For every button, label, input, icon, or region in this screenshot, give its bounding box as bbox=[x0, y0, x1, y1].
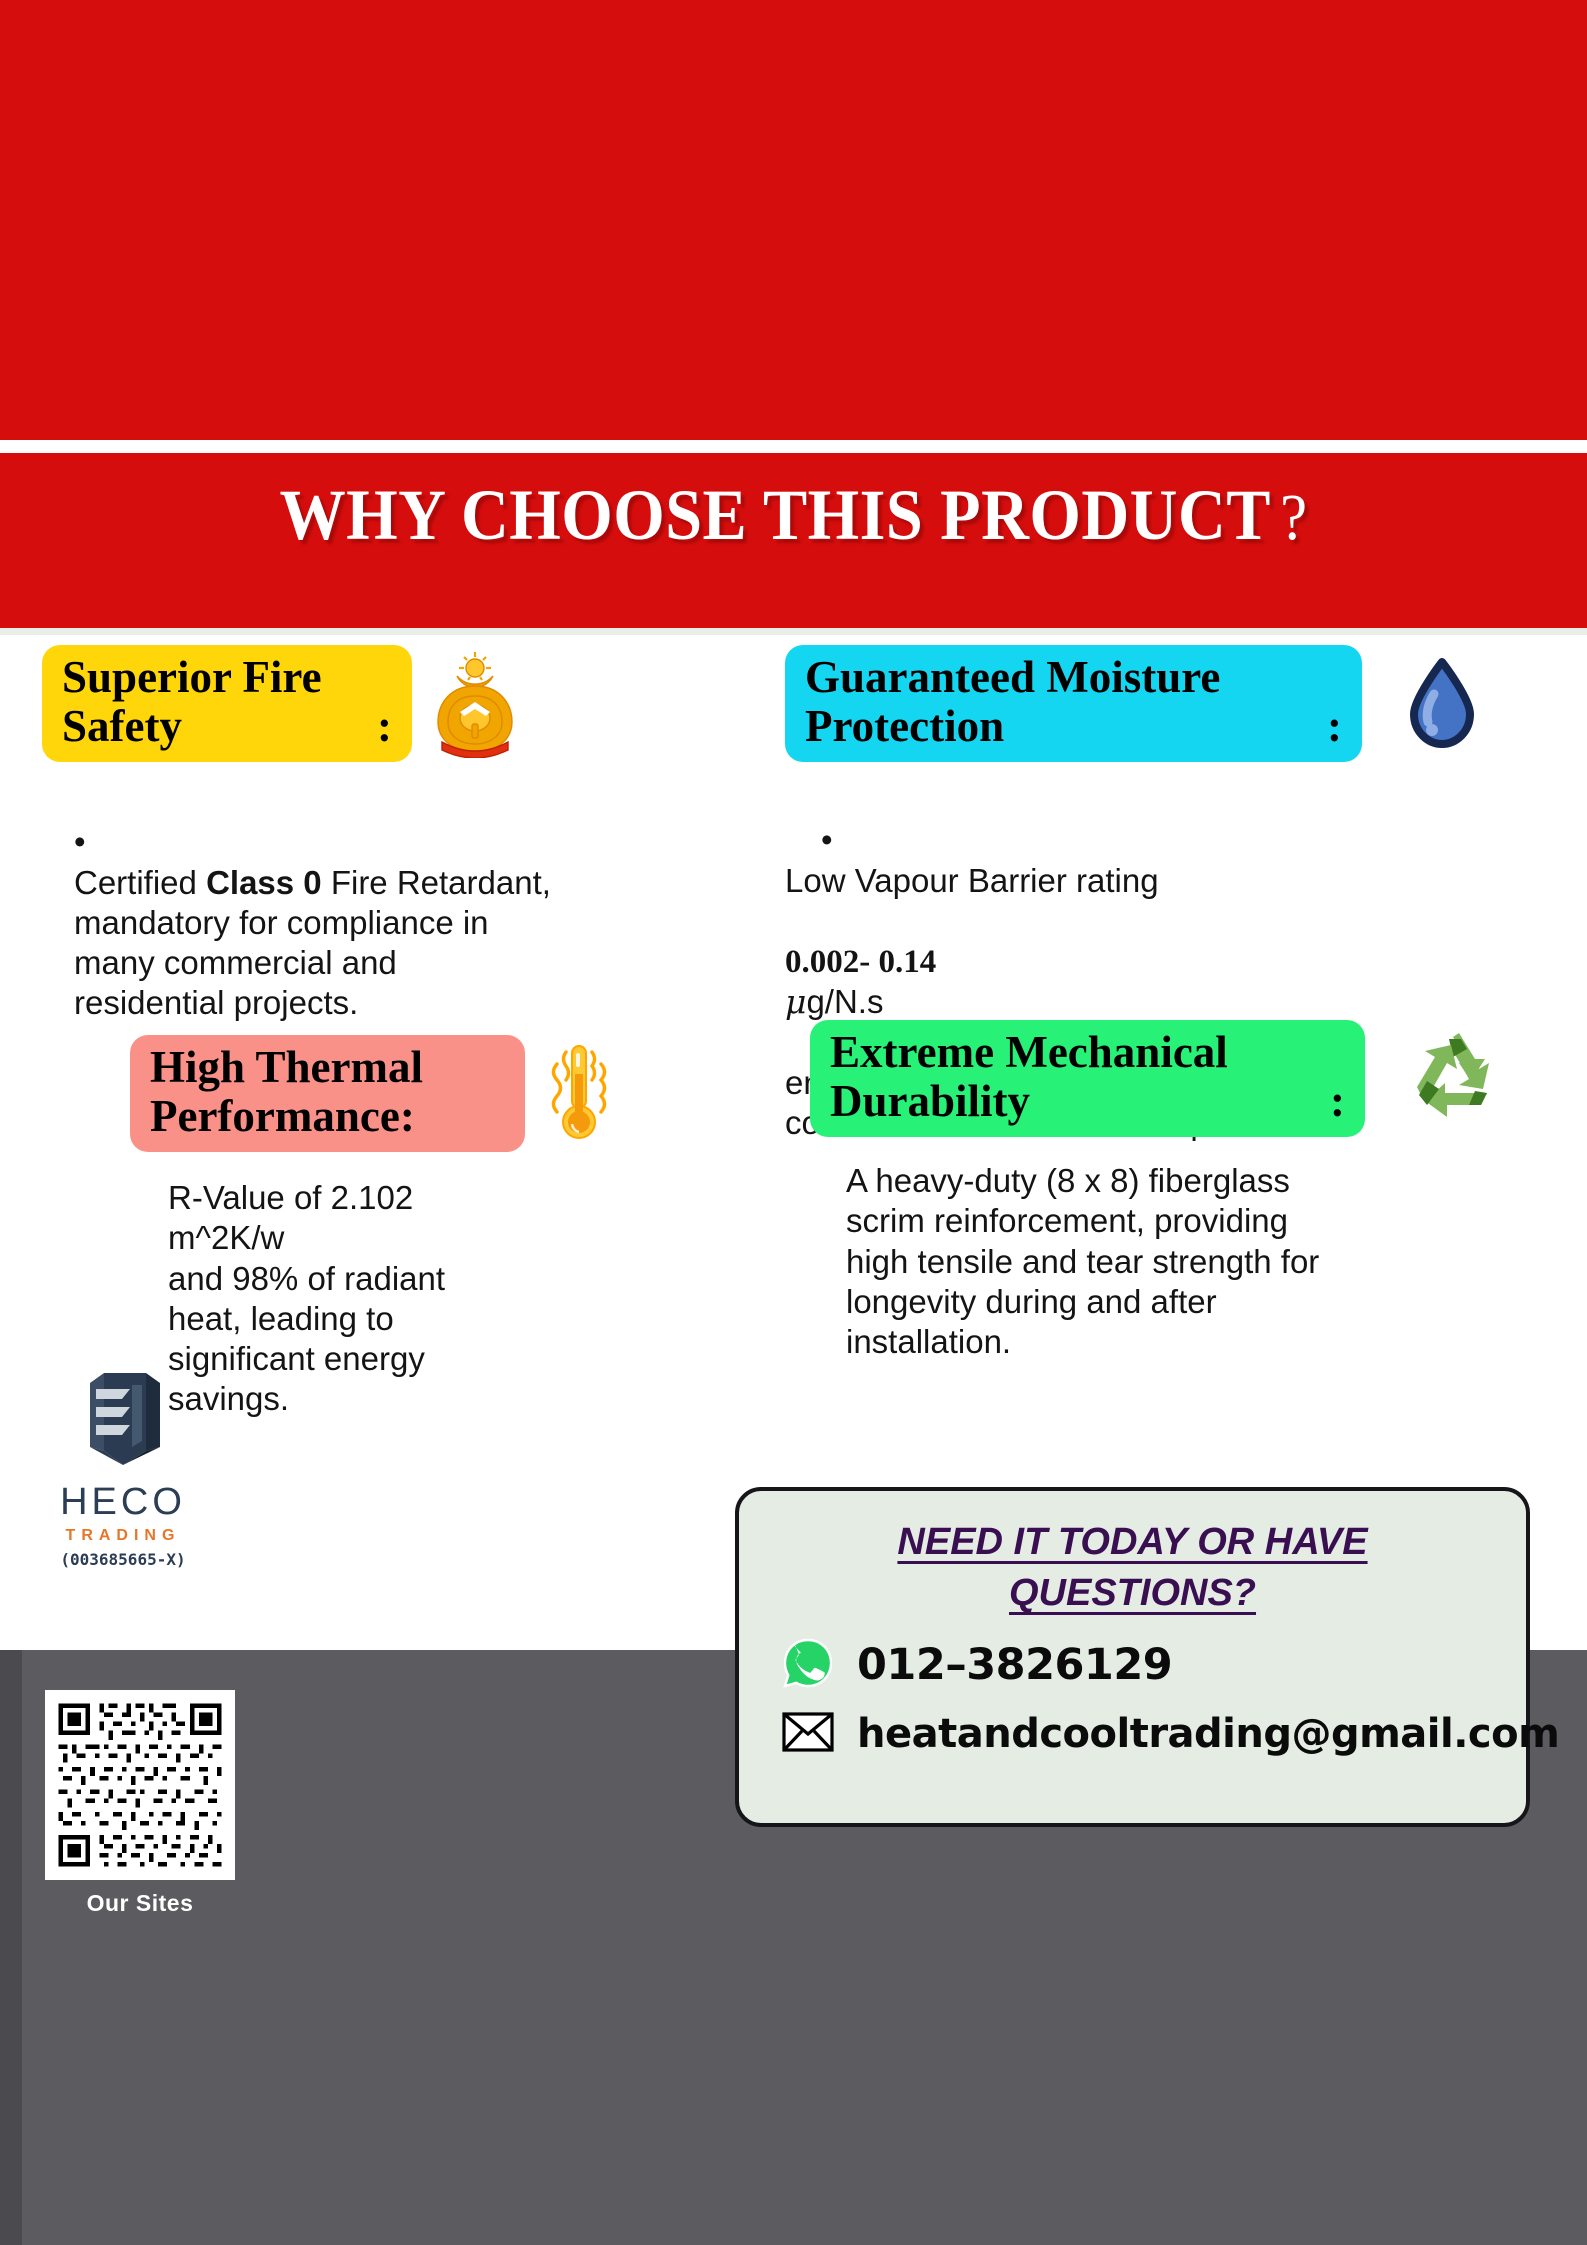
feature-moisture-protection-header: Guaranteed Moisture Protection : bbox=[785, 645, 1575, 762]
chip-line-2-text: Durability bbox=[830, 1077, 1030, 1126]
heco-logo: HECO TRADING (003685665-X) bbox=[28, 1355, 218, 1569]
chip-colon: : bbox=[1330, 1077, 1345, 1126]
masthead-banner bbox=[0, 0, 1587, 440]
bullet-glyph: • bbox=[74, 823, 86, 860]
body-bold-class0: Class 0 bbox=[206, 864, 322, 901]
feature-thermal-performance-chip: High Thermal Performance: bbox=[130, 1035, 525, 1152]
bullet-glyph: • bbox=[785, 821, 833, 858]
chip-line-2: Safety : bbox=[62, 702, 392, 751]
contact-phone-number[interactable]: 012–3826129 bbox=[857, 1640, 1172, 1690]
logo-wordmark: HECO bbox=[28, 1481, 218, 1524]
water-droplet-icon bbox=[1406, 656, 1478, 752]
chip-line-1: Guaranteed Moisture bbox=[805, 653, 1342, 702]
logo-tagline: TRADING bbox=[28, 1527, 218, 1545]
body-pre: Certified bbox=[74, 864, 206, 901]
contact-heading-line-2: QUESTIONS? bbox=[1009, 1572, 1256, 1614]
body-line-1: Low Vapour Barrier rating bbox=[785, 862, 1159, 899]
chip-line-2-text: Safety bbox=[62, 702, 182, 751]
footer-band-edge bbox=[0, 1650, 22, 2245]
chip-line-1: Superior Fire bbox=[62, 653, 392, 702]
features-grid: Superior Fire Safety : bbox=[0, 635, 1587, 1480]
feature-fire-safety-header: Superior Fire Safety : bbox=[42, 645, 742, 762]
feature-fire-safety-chip: Superior Fire Safety : bbox=[42, 645, 412, 762]
feature-mechanical-durability: Extreme Mechanical Durability : bbox=[810, 1020, 1587, 1362]
masthead-divider bbox=[0, 440, 1587, 453]
feature-mechanical-durability-chip: Extreme Mechanical Durability : bbox=[810, 1020, 1365, 1137]
features-column-left: Superior Fire Safety : bbox=[0, 635, 760, 1480]
chip-colon: : bbox=[377, 702, 392, 751]
contact-email-address[interactable]: heatandcooltrading@gmail.com bbox=[857, 1711, 1559, 1757]
recycle-icon bbox=[1405, 1031, 1501, 1127]
chip-line-2: Protection : bbox=[805, 702, 1342, 751]
chip-line-1: Extreme Mechanical bbox=[830, 1028, 1345, 1077]
chip-line-2-text: Protection bbox=[805, 702, 1004, 751]
contact-email-row[interactable]: heatandcooltrading@gmail.com bbox=[739, 1710, 1526, 1758]
feature-fire-safety-body: • Certified Class 0 Fire Retardant, mand… bbox=[42, 782, 742, 1024]
flyer-page: WHY CHOOSE THIS PRODUCT? Superior Fire S… bbox=[0, 0, 1587, 2245]
feature-mechanical-durability-header: Extreme Mechanical Durability : bbox=[810, 1020, 1587, 1137]
contact-heading: NEED IT TODAY OR HAVE QUESTIONS? bbox=[739, 1491, 1526, 1620]
feature-fire-safety: Superior Fire Safety : bbox=[42, 645, 742, 1024]
feature-thermal-performance-header: High Thermal Performance: bbox=[130, 1035, 750, 1152]
thermometer-icon bbox=[539, 1036, 619, 1152]
chip-colon: : bbox=[1327, 702, 1342, 751]
vapour-barrier-value: 0.002- 0.14 bbox=[785, 944, 936, 980]
feature-thermal-performance-body: R-Value of 2.102 m^2K/w and 98% of radia… bbox=[130, 1178, 750, 1420]
chip-line-1: High Thermal bbox=[150, 1043, 505, 1092]
bomba-fire-badge-icon bbox=[426, 646, 524, 762]
micro-symbol: μ bbox=[785, 982, 806, 1021]
vapour-barrier-unit: g/N.s bbox=[806, 983, 883, 1020]
feature-mechanical-durability-body: A heavy-duty (8 x 8) fiberglass scrim re… bbox=[810, 1161, 1587, 1362]
page-title-question-mark: ? bbox=[1280, 481, 1307, 554]
qr-caption: Our Sites bbox=[45, 1890, 235, 1917]
qr-block[interactable]: Our Sites bbox=[45, 1690, 235, 1917]
features-column-right: Guaranteed Moisture Protection : bbox=[760, 635, 1587, 1480]
contact-card: NEED IT TODAY OR HAVE QUESTIONS? 012–382… bbox=[735, 1487, 1530, 1827]
envelope-icon[interactable] bbox=[781, 1710, 835, 1758]
page-title: WHY CHOOSE THIS PRODUCT? bbox=[63, 474, 1523, 557]
feature-thermal-performance: High Thermal Performance: bbox=[130, 1035, 750, 1420]
building-monolith-icon bbox=[62, 1460, 184, 1479]
contact-heading-line-1: NEED IT TODAY OR HAVE bbox=[897, 1521, 1367, 1563]
chip-line-2: Performance: bbox=[150, 1092, 505, 1141]
contact-phone-row[interactable]: 012–3826129 bbox=[739, 1636, 1526, 1694]
feature-moisture-protection-chip: Guaranteed Moisture Protection : bbox=[785, 645, 1362, 762]
logo-registration-number: (003685665-X) bbox=[28, 1550, 218, 1569]
qr-code-icon[interactable] bbox=[45, 1690, 235, 1880]
page-title-text: WHY CHOOSE THIS PRODUCT bbox=[279, 475, 1270, 555]
chip-line-2: Durability : bbox=[830, 1077, 1345, 1126]
whatsapp-icon[interactable] bbox=[781, 1636, 835, 1694]
title-band-underline bbox=[0, 628, 1587, 635]
